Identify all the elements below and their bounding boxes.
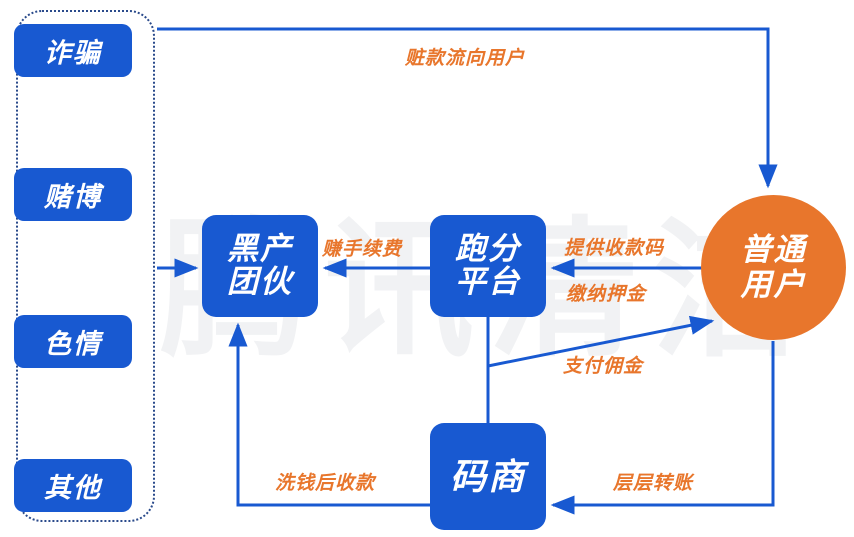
edge-label-zhifu-yongjin: 支付佣金: [563, 351, 643, 378]
category-pill-label: 赌博: [44, 175, 102, 214]
node-label-line: 黑产: [227, 233, 293, 266]
category-pill-zhapian[interactable]: 诈骗: [14, 24, 132, 77]
node-heichan[interactable]: 黑产 团伙: [202, 215, 318, 317]
node-label-line: 用户: [741, 268, 807, 302]
category-pill-label: 诈骗: [44, 31, 102, 70]
node-mashang[interactable]: 码商: [430, 423, 546, 530]
source-category-group: [16, 10, 155, 522]
category-pill-dubo[interactable]: 赌博: [14, 168, 132, 221]
node-putong-yonghu[interactable]: 普通 用户: [701, 195, 846, 340]
node-label-line: 码商: [450, 458, 526, 496]
edge-label-tigong-shoukuanma: 提供收款码: [564, 233, 664, 260]
category-pill-label: 色情: [44, 322, 102, 361]
edge-label-cengceng-zhuanzhang: 层层转账: [613, 468, 693, 495]
category-pill-label: 其他: [44, 466, 102, 505]
diagram-canvas: 腾讯清洁 诈骗 赌博 色情 其他: [0, 0, 854, 537]
node-label-line: 平台: [455, 266, 521, 299]
edge-label-zangkuan-liuxiang-yonghu: 赃款流向用户: [405, 43, 525, 70]
edge-label-jiaona-yajin: 缴纳押金: [566, 279, 646, 306]
node-label-line: 普通: [741, 233, 807, 267]
node-paofen[interactable]: 跑分 平台: [430, 215, 546, 317]
category-pill-seqing[interactable]: 色情: [14, 315, 132, 368]
node-label-line: 团伙: [227, 266, 293, 299]
edge-label-xiqian-hou-shoukuan: 洗钱后收款: [275, 468, 375, 495]
node-label-line: 跑分: [455, 233, 521, 266]
category-pill-qita[interactable]: 其他: [14, 459, 132, 512]
edge-label-zhuan-shouxufei: 赚手续费: [322, 234, 402, 261]
